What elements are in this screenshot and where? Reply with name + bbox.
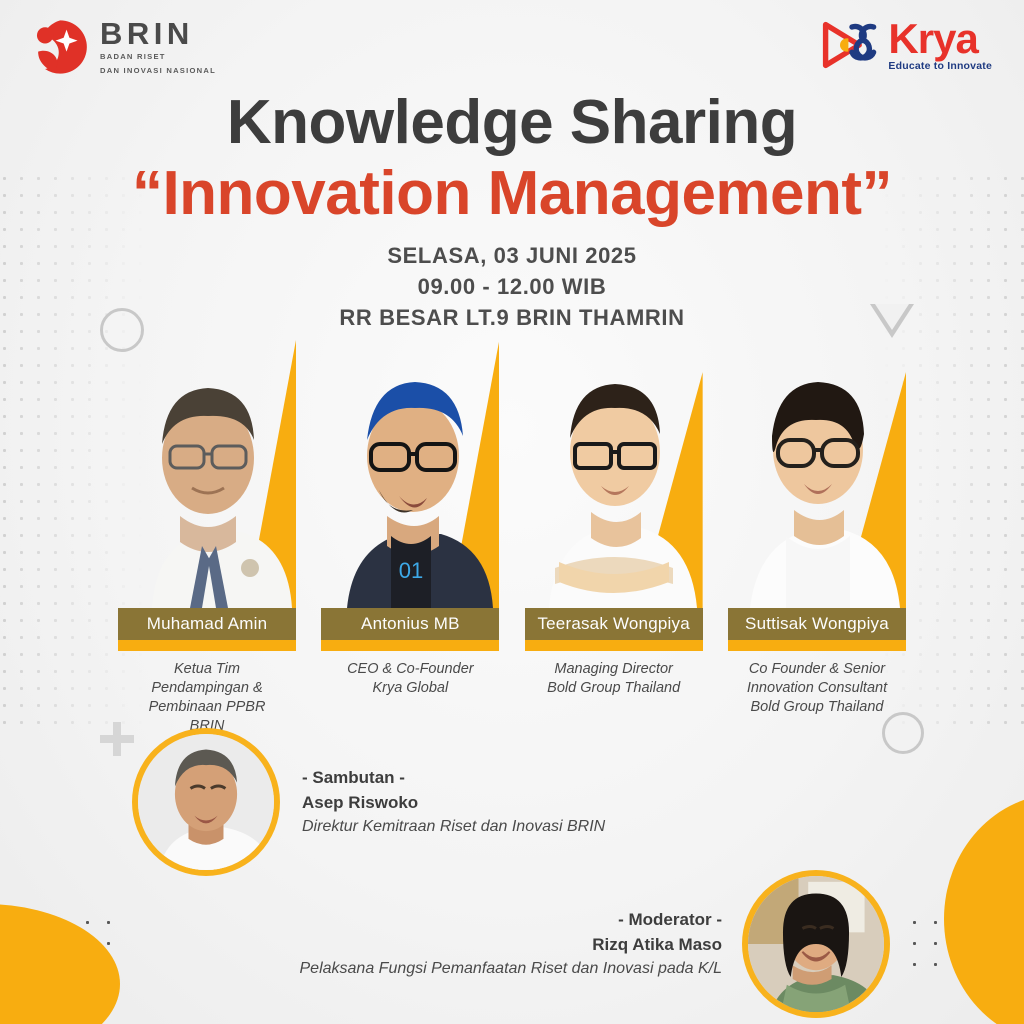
portrait-asep-riswoko — [138, 734, 274, 870]
svg-text:01: 01 — [399, 558, 423, 583]
brin-logo: BRIN BADAN RISET DAN INOVASI NASIONAL — [30, 18, 216, 76]
moderator-avatar — [742, 870, 890, 1018]
speaker-card: Suttisak Wongpiya Co Founder & SeniorInn… — [728, 340, 906, 737]
welcome-speaker-block: - Sambutan - Asep Riswoko Direktur Kemit… — [132, 728, 605, 876]
speaker-name: Suttisak Wongpiya — [745, 614, 889, 634]
speaker-name-bar: Teerasak Wongpiya — [525, 608, 703, 640]
portrait-muhamad-amin — [118, 340, 296, 608]
moderator-name: Rizq Atika Maso — [300, 933, 723, 958]
krya-name: Krya — [888, 18, 992, 60]
speaker-name-underline — [525, 640, 703, 651]
speaker-name-underline — [321, 640, 499, 651]
welcome-avatar — [132, 728, 280, 876]
event-venue: RR BESAR LT.9 BRIN THAMRIN — [0, 302, 1024, 333]
poster-canvas: BRIN BADAN RISET DAN INOVASI NASIONAL Kr… — [0, 0, 1024, 1024]
headline-line-2: “Innovation Management” — [0, 159, 1024, 228]
speaker-name: Antonius MB — [361, 614, 460, 634]
portrait-antonius-mb: 01 — [321, 340, 499, 608]
speaker-photo-frame: 01 — [321, 340, 499, 608]
speaker-card: 01 Antonius MB CEO & Co-FounderKrya Glob… — [321, 340, 499, 737]
speaker-name-underline — [728, 640, 906, 651]
headline-block: Knowledge Sharing “Innovation Management… — [0, 90, 1024, 229]
speaker-photo-frame — [525, 340, 703, 608]
event-details: SELASA, 03 JUNI 2025 09.00 - 12.00 WIB R… — [0, 240, 1024, 334]
welcome-name: Asep Riswoko — [302, 791, 605, 816]
brin-tagline-line1: BADAN RISET — [100, 52, 216, 63]
portrait-teerasak-wongpiya — [525, 340, 703, 608]
welcome-position: Direktur Kemitraan Riset dan Inovasi BRI… — [302, 815, 605, 838]
krya-logo-icon — [816, 16, 882, 74]
welcome-label: - Sambutan - — [302, 765, 605, 791]
yellow-blob-bottom-right-icon — [944, 794, 1024, 1024]
speaker-name-underline — [118, 640, 296, 651]
krya-logo: Krya Educate to Innovate — [816, 16, 992, 74]
event-time: 09.00 - 12.00 WIB — [0, 271, 1024, 302]
speaker-photo-frame — [728, 340, 906, 608]
headline-line-1: Knowledge Sharing — [0, 90, 1024, 155]
speaker-role: Ketua TimPendampingan &Pembinaan PPBRBRI… — [118, 660, 296, 737]
moderator-label: - Moderator - — [300, 907, 723, 933]
brin-logo-icon — [30, 18, 88, 76]
moderator-text: - Moderator - Rizq Atika Maso Pelaksana … — [300, 907, 723, 980]
brin-tagline-line2: DAN INOVASI NASIONAL — [100, 66, 216, 77]
speaker-role: Managing DirectorBold Group Thailand — [525, 660, 703, 698]
portrait-rizq-atika-maso — [748, 876, 884, 1012]
moderator-block: - Moderator - Rizq Atika Maso Pelaksana … — [300, 870, 891, 1018]
krya-wordmark: Krya Educate to Innovate — [888, 18, 992, 72]
speaker-photo-frame — [118, 340, 296, 608]
speaker-name-bar: Suttisak Wongpiya — [728, 608, 906, 640]
speaker-role: Co Founder & SeniorInnovation Consultant… — [728, 660, 906, 717]
speaker-role: CEO & Co-FounderKrya Global — [321, 660, 499, 698]
brin-name: BRIN — [100, 18, 216, 49]
brin-wordmark: BRIN BADAN RISET DAN INOVASI NASIONAL — [100, 18, 216, 76]
speaker-name: Teerasak Wongpiya — [537, 614, 689, 634]
moderator-position: Pelaksana Fungsi Pemanfaatan Riset dan I… — [300, 957, 723, 980]
event-date: SELASA, 03 JUNI 2025 — [0, 240, 1024, 271]
speaker-card: Teerasak Wongpiya Managing DirectorBold … — [525, 340, 703, 737]
speaker-name-bar: Muhamad Amin — [118, 608, 296, 640]
speaker-list: Muhamad Amin Ketua TimPendampingan &Pemb… — [118, 340, 906, 737]
speaker-name: Muhamad Amin — [147, 614, 268, 634]
welcome-text: - Sambutan - Asep Riswoko Direktur Kemit… — [302, 765, 605, 838]
krya-tagline: Educate to Innovate — [888, 61, 992, 72]
portrait-suttisak-wongpiya — [728, 340, 906, 608]
speaker-card: Muhamad Amin Ketua TimPendampingan &Pemb… — [118, 340, 296, 737]
speaker-name-bar: Antonius MB — [321, 608, 499, 640]
